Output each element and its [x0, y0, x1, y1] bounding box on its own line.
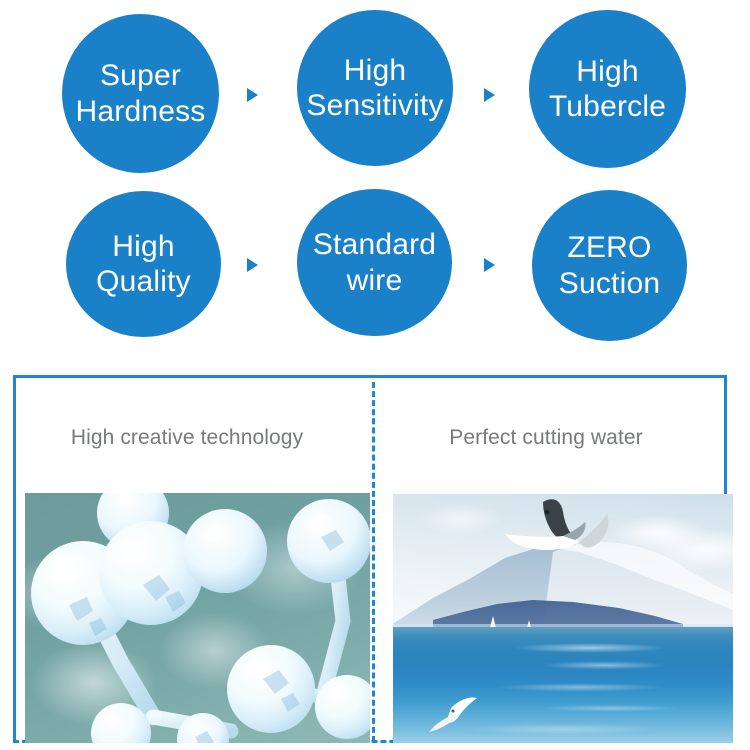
cell-title: High creative technology [16, 426, 372, 450]
triangle-right-icon [247, 258, 258, 272]
feature-bubble-super-hardness[interactable]: Super Hardness [62, 14, 219, 173]
cell-title: Perfect cutting water [375, 426, 727, 450]
feature-bubble-label: High Sensitivity [306, 53, 443, 124]
molecule-artwork [25, 493, 370, 743]
feature-bubble-label: Standard wire [313, 227, 436, 298]
feature-flow-diagram: Super Hardness High Sensitivity High Tub… [0, 0, 750, 360]
seascape-foreground [393, 494, 733, 743]
feature-bubble-label: ZERO Suction [559, 230, 660, 301]
showcase-cell-perfect-cutting-water: Perfect cutting water [375, 378, 727, 740]
feature-bubble-label: High Tubercle [549, 54, 666, 125]
feature-bubble-standard-wire[interactable]: Standard wire [297, 189, 452, 336]
product-feature-infographic: Super Hardness High Sensitivity High Tub… [0, 0, 750, 750]
triangle-right-icon [247, 88, 258, 102]
triangle-right-icon [484, 88, 495, 102]
feature-bubble-zero-suction[interactable]: ZERO Suction [532, 190, 687, 341]
feature-bubble-high-tubercle[interactable]: High Tubercle [529, 10, 686, 168]
showcase-panel: High creative technology [13, 375, 727, 743]
molecule-structure-photo [25, 493, 370, 743]
triangle-right-icon [484, 258, 495, 272]
feature-bubble-high-quality[interactable]: High Quality [66, 191, 221, 337]
seagull-small-foreground [429, 697, 477, 732]
feature-bubble-label: Super Hardness [76, 58, 206, 129]
showcase-cell-high-creative-technology: High creative technology [16, 378, 372, 740]
feature-bubble-label: High Quality [96, 229, 191, 300]
feature-bubble-high-sensitivity[interactable]: High Sensitivity [297, 10, 453, 166]
seascape-photo [393, 494, 733, 743]
